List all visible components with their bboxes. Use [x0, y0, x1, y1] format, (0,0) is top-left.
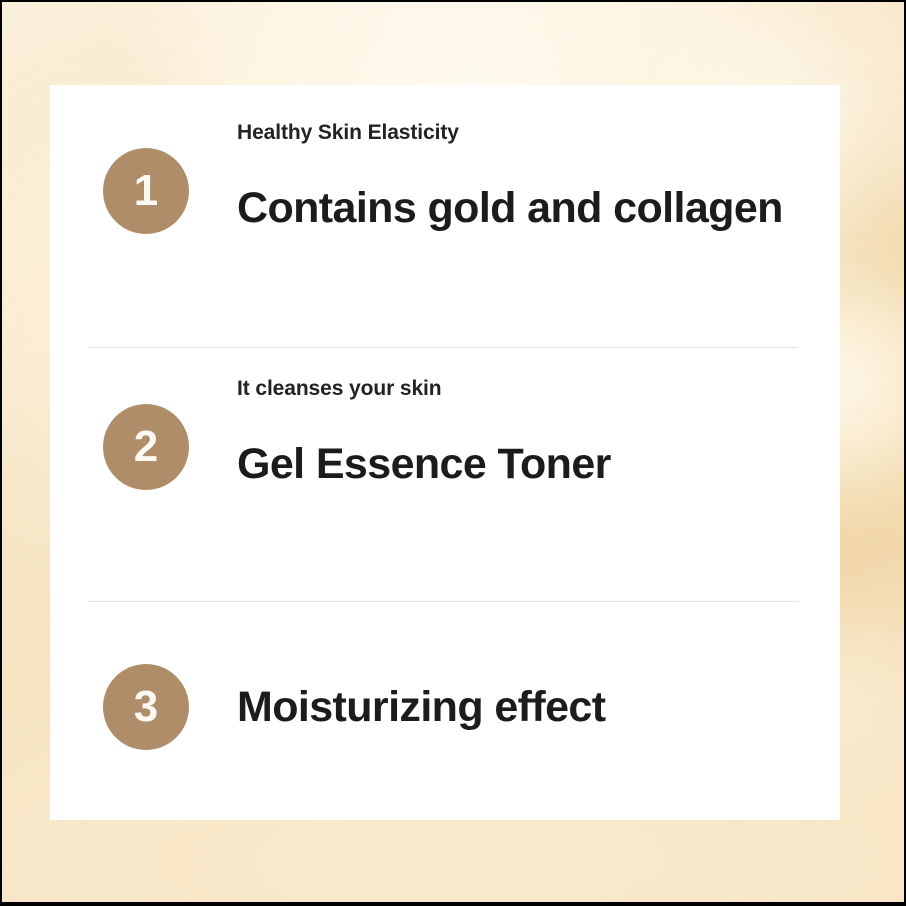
feature-title: Gel Essence Toner [237, 399, 840, 486]
feature-row: 1 Healthy Skin Elasticity Contains gold … [50, 115, 840, 347]
product-feature-graphic: 1 Healthy Skin Elasticity Contains gold … [0, 0, 906, 906]
feature-number-badge: 2 [103, 404, 189, 490]
feature-subtitle: It cleanses your skin [237, 371, 840, 399]
feature-text-block: Healthy Skin Elasticity Contains gold an… [189, 115, 840, 230]
feature-row: 3 Moisturizing effect [50, 627, 840, 787]
feature-text-block: It cleanses your skin Gel Essence Toner [189, 371, 840, 486]
feature-subtitle: Healthy Skin Elasticity [237, 115, 840, 143]
feature-number-badge: 1 [103, 148, 189, 234]
feature-text-block: Moisturizing effect [189, 686, 840, 729]
feature-row: 2 It cleanses your skin Gel Essence Tone… [50, 371, 840, 603]
feature-number-badge: 3 [103, 664, 189, 750]
feature-card: 1 Healthy Skin Elasticity Contains gold … [50, 85, 840, 820]
feature-title: Moisturizing effect [237, 686, 840, 729]
feature-divider [88, 347, 798, 348]
feature-divider [88, 601, 798, 602]
feature-title: Contains gold and collagen [237, 143, 840, 230]
